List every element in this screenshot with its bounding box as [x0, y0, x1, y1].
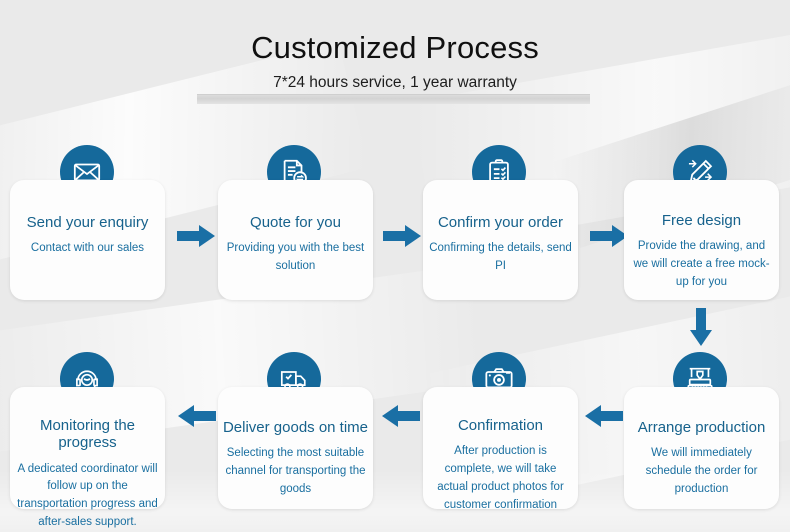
step-card-4[interactable]: Free design Provide the drawing, and we … — [624, 180, 779, 300]
arrow-right-icon — [590, 225, 628, 247]
step-heading: Confirmation — [423, 417, 578, 434]
step-card-1[interactable]: Send your enquiry Contact with our sales — [10, 180, 165, 300]
arrow-left-icon — [585, 405, 623, 427]
step-body: Confirming the details, send PI — [423, 240, 578, 276]
arrow-right-icon — [383, 225, 421, 247]
step-card-8[interactable]: Monitoring the progress A dedicated coor… — [10, 387, 165, 509]
step-body: A dedicated coordinator will follow up o… — [10, 461, 165, 532]
arrow-down-icon — [690, 308, 712, 346]
step-body: After production is complete, we will ta… — [423, 443, 578, 514]
header: Customized Process 7*24 hours service, 1… — [0, 0, 790, 92]
step-card-2[interactable]: Quote for you Providing you with the bes… — [218, 180, 373, 300]
step-heading: Quote for you — [218, 214, 373, 231]
step-body: Providing you with the best solution — [218, 240, 373, 276]
step-body: Contact with our sales — [10, 240, 165, 258]
step-heading: Arrange production — [624, 419, 779, 436]
step-card-3[interactable]: Confirm your order Confirming the detail… — [423, 180, 578, 300]
step-card-5[interactable]: Arrange production We will immediately s… — [624, 387, 779, 509]
step-body: Provide the drawing, and we will create … — [624, 238, 779, 291]
arrow-left-icon — [178, 405, 216, 427]
process-diagram: Customized Process 7*24 hours service, 1… — [0, 0, 790, 532]
step-card-7[interactable]: Deliver goods on time Selecting the most… — [218, 387, 373, 509]
step-heading: Confirm your order — [423, 214, 578, 231]
step-heading: Send your enquiry — [10, 214, 165, 231]
step-card-6[interactable]: Confirmation After production is complet… — [423, 387, 578, 509]
step-body: We will immediately schedule the order f… — [624, 445, 779, 498]
step-heading: Monitoring the progress — [10, 417, 165, 452]
page-subtitle: 7*24 hours service, 1 year warranty — [0, 74, 790, 92]
step-heading: Free design — [624, 212, 779, 229]
header-divider — [197, 94, 590, 104]
step-heading: Deliver goods on time — [218, 419, 373, 436]
step-body: Selecting the most suitable channel for … — [218, 445, 373, 498]
page-title: Customized Process — [0, 32, 790, 65]
arrow-right-icon — [177, 225, 215, 247]
arrow-left-icon — [382, 405, 420, 427]
